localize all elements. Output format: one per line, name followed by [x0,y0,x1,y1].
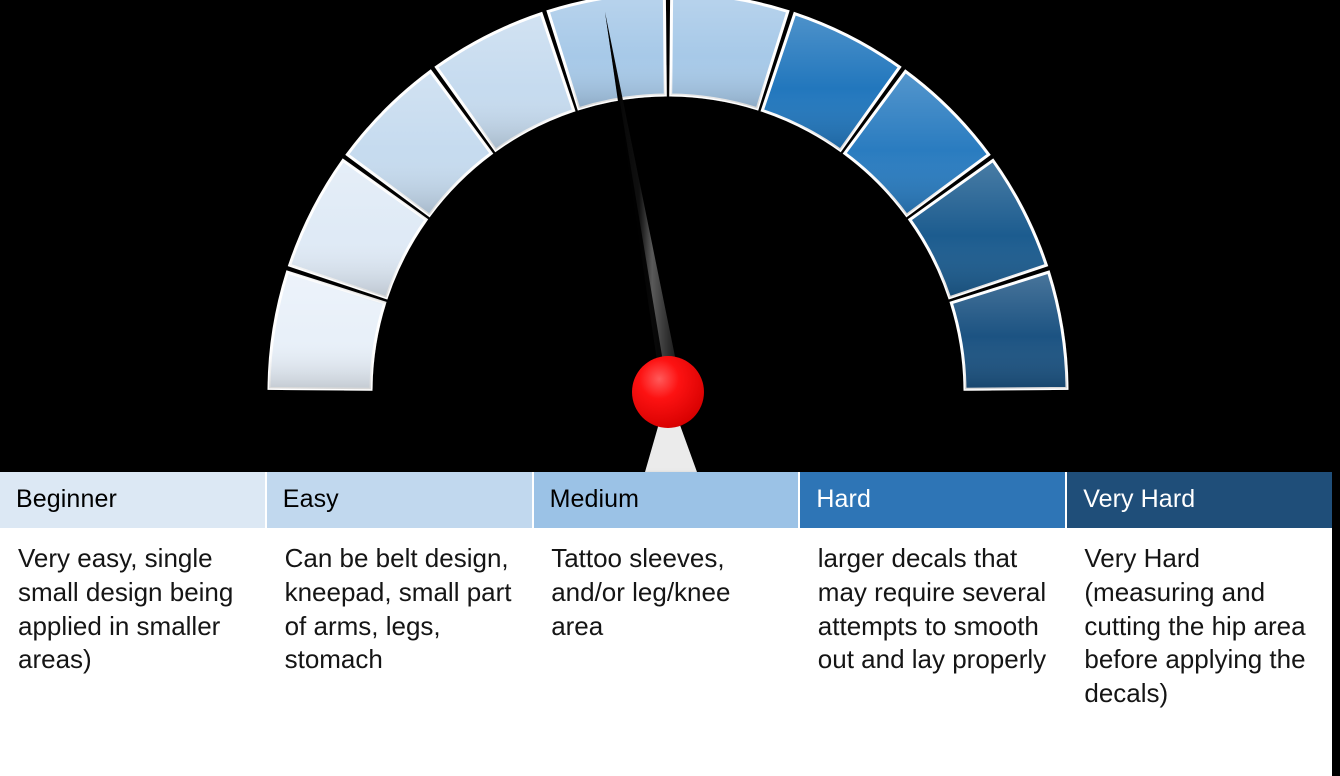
gauge-infographic-page: Beginner Easy Medium Hard Very Hard Very… [0,0,1340,776]
table-header-hard[interactable]: Hard [800,472,1067,528]
table-header-very-hard[interactable]: Very Hard [1067,472,1332,528]
table-header-label: Easy [283,486,339,514]
table-header-row: Beginner Easy Medium Hard Very Hard [0,472,1332,528]
gauge-chart [0,0,1340,472]
table-header-label: Very Hard [1083,486,1195,514]
table-cell-easy: Can be belt design, kneepad, small part … [267,528,534,776]
table-header-medium[interactable]: Medium [534,472,801,528]
gauge-svg [0,0,1340,472]
table-header-label: Medium [550,486,640,514]
table-cell-very-hard: Very Hard (measuring and cutting the hip… [1066,528,1332,776]
gauge-hub[interactable] [632,356,704,428]
table-body-row: Very easy, single small design being app… [0,528,1332,776]
table-header-easy[interactable]: Easy [267,472,534,528]
table-header-label: Beginner [16,486,117,514]
table-cell-medium: Tattoo sleeves, and/or leg/knee area [533,528,800,776]
difficulty-legend-table: Beginner Easy Medium Hard Very Hard Very… [0,472,1332,776]
table-tail-marker [727,748,734,776]
table-header-label: Hard [816,486,871,514]
table-cell-hard: larger decals that may require several a… [800,528,1067,776]
table-cell-beginner: Very easy, single small design being app… [0,528,267,776]
table-header-beginner[interactable]: Beginner [0,472,267,528]
